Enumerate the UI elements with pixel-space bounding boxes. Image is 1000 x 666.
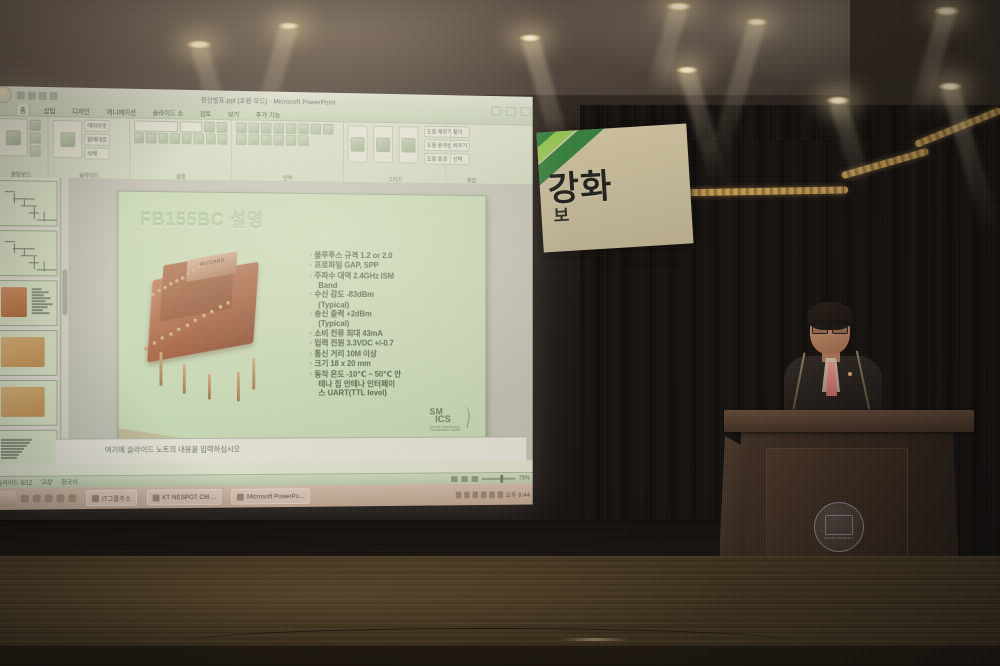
thumbnail-text-lines [1,439,53,460]
university-emblem: SEJONG UNIVERSITY [814,502,864,552]
numbering-icon[interactable] [248,123,259,134]
pcb-pin [218,305,222,309]
align-right-icon[interactable] [261,135,272,146]
pcb-pin-headers [136,253,279,254]
slide-bullet: ›통신 거리 10M 이상 [310,349,477,359]
taskbar-window-label: KT NESPOT CM ... [162,493,216,500]
new-slide-button[interactable] [53,120,83,158]
ribbon-tab-2[interactable]: 디자인 [69,104,93,116]
slide-editing-area[interactable]: FB155BC 설명 WIZZARD ›블루투스 규격 1.2 or 2.0›프… [68,178,532,463]
distribute-icon[interactable] [298,135,308,146]
bullet-marker-icon: › [310,370,312,380]
bullet-text: 프로파일 GAP, SPP [314,261,477,272]
theme-name: '교장' [40,478,53,487]
bullet-continuation: (Typical) [318,320,477,329]
ribbon-tab-1[interactable]: 삽입 [41,104,59,116]
bluetooth-module-image[interactable]: WIZZARD [136,253,279,401]
pcb-pin [185,323,189,327]
zoom-slider[interactable] [482,477,515,479]
find-button[interactable]: 찾기 [450,126,470,138]
align-text-icon[interactable] [311,124,321,135]
conference-photo: 강화 보 정산발표.ppt [호환 모드] - Microsoft PowerP… [0,0,1000,666]
zoom-level: 75% [519,475,530,481]
slide-thumbnail-pane[interactable]: 5678910 [0,177,60,464]
glasses-icon [812,325,848,332]
slide-bullet: ›동작 온도 -10℃ ~ 50℃ 안 [310,370,477,380]
italic-icon[interactable] [146,133,156,144]
zoom-slider-handle[interactable] [500,474,503,482]
thumbnail-image [1,387,45,417]
slide-bullet: ›주파수 대역 2.4GHz ISM [310,271,477,282]
banner-subtitle: 보 [553,201,570,227]
columns-icon[interactable] [286,135,297,146]
folder-icon [92,495,99,502]
minimize-icon[interactable] [491,107,501,116]
view-slideshow-icon[interactable] [472,476,479,482]
pcb-pin [193,269,197,273]
monitor-icon[interactable] [497,491,503,498]
pcb-pin [144,346,148,350]
line-spacing-icon[interactable] [286,123,297,134]
system-tray[interactable]: 오후 8:44 [455,489,530,499]
bullet-text: 입력 전원 3.3VDC +/-0.7 [314,339,477,349]
bullet-text: 주파수 대역 2.4GHz ISM [314,271,477,282]
thumbnail-scrollbar[interactable] [60,178,68,464]
grow-font-icon[interactable] [205,122,215,133]
lapel-pin [848,372,852,376]
taskbar-window-label: Microsoft PowerPo... [247,493,304,500]
bullet-marker-icon: › [310,271,312,281]
slide-thumbnail[interactable]: 5 [0,180,58,227]
thumbnail-image [1,287,27,317]
slide-logo: SM ICS Sensing, Networking & Communicati… [430,406,471,435]
powerpoint-icon [237,493,244,500]
pcb-pin [193,319,197,323]
taskbar-window-list[interactable]: IT그룹주소KT NESPOT CM ...Microsoft PowerPo.… [76,488,310,506]
select-button[interactable]: 선택 [450,153,470,165]
pcb-leg-pin [159,352,162,386]
ribbon-group-clipboard[interactable]: 클립보드 [0,116,49,179]
media-icon[interactable] [57,494,65,502]
projection-screen: 정산발표.ppt [호환 모드] - Microsoft PowerPoint … [0,86,533,510]
decrease-indent-icon[interactable] [261,123,272,134]
align-center-icon[interactable] [248,134,259,145]
replace-button[interactable]: 바꾸기 [450,140,470,152]
bullet-text: 송신 출력 +2dBm [314,309,477,319]
floor-bottom-strip [0,646,1000,666]
bullet-text: 통신 거리 10M 이상 [314,349,477,359]
start-button[interactable] [0,491,16,507]
ribbon-group-font[interactable]: 글꼴 [130,118,232,181]
slide-bullet: ›프로파일 GAP, SPP [310,260,477,271]
bullet-marker-icon: › [310,309,312,319]
slide-bullet: ›수신 감도 -83dBm [310,290,477,301]
shield-icon[interactable] [472,491,478,498]
taskbar-window-button[interactable]: KT NESPOT CM ... [147,489,222,505]
wall-banner: 강화 보 [536,124,693,253]
bullet-text: 동작 온도 -10℃ ~ 50℃ 안 [314,370,477,380]
copy-icon[interactable] [30,132,41,143]
mail-icon[interactable] [33,495,41,503]
ribbon-tab-7[interactable]: 추가 기능 [253,108,283,120]
view-sorter-icon[interactable] [461,476,468,482]
quick-launch-bar[interactable] [21,494,76,502]
pcb-leg-pin [252,358,255,389]
ribbon-group-editing[interactable]: 찾기 바꾸기 선택 편집 [446,124,496,185]
slide-body-text[interactable]: ›블루투스 규격 1.2 or 2.0›프로파일 GAP, SPP›주파수 대역… [310,250,477,398]
bullet-marker-icon: › [310,339,312,349]
bullet-text: 크기 18 x 20 mm [314,359,477,369]
pcb-pin [175,279,179,283]
taskbar-clock: 오후 8:44 [506,489,530,499]
shapes-icon [351,137,365,152]
view-normal-icon[interactable] [451,476,458,482]
ribbon-tab-6[interactable]: 보기 [225,107,242,119]
ribbon-tab-3[interactable]: 애니메이션 [104,105,139,118]
bullet-marker-icon: › [310,349,312,359]
slide-thumbnail[interactable]: 10 [0,430,58,464]
ribbon-group-drawing[interactable]: 도형 채우기 도형 윤곽선 도형 효과 그리기 [344,122,447,184]
pcb-leg-pin [237,371,240,400]
ribbon-tab-4[interactable]: 슬라이드 쇼 [150,106,187,119]
floor-highlight [560,638,630,641]
slide-counter: 슬라이드 8/12 [0,478,32,487]
smartart-icon[interactable] [323,124,333,135]
shrink-font-icon[interactable] [217,122,227,133]
slide-thumbnail[interactable]: 8 [0,330,58,376]
thumbnail-text-lines [32,288,54,315]
slide-bullet: ›송신 출력 +2dBm [310,309,477,319]
close-icon[interactable] [521,107,531,116]
delete-slide-button[interactable]: 삭제 [84,147,110,159]
thumbnail-image [1,337,45,367]
bullet-text: 블루투스 규격 1.2 or 2.0 [314,250,477,261]
bullet-text: 수신 감도 -83dBm [314,290,477,301]
change-case-icon[interactable] [206,134,216,145]
layout-button[interactable]: 레이아웃 [84,120,110,132]
volume-icon[interactable] [455,491,461,498]
folder-icon[interactable] [45,494,53,502]
language-indicator[interactable]: 한국어 [61,477,77,486]
quick-styles-button[interactable] [399,126,419,163]
powerpoint-window: 정산발표.ppt [호환 모드] - Microsoft PowerPoint … [0,86,533,510]
reset-button[interactable]: 원래대로 [84,134,110,146]
ribbon[interactable]: 클립보드 레이아웃 원래대로 삭제 슬라이드 [0,116,533,186]
pcb-pin [152,292,156,296]
music-icon[interactable] [68,494,76,502]
slide-bullet: ›크기 18 x 20 mm [310,359,477,369]
bold-icon[interactable] [134,132,144,143]
pcb-pin [163,286,167,290]
module-label: WIZZARD [187,255,238,270]
usb-icon[interactable] [480,491,486,498]
bullet-continuation: 테나 칩 안테나 인터페이 [318,380,477,389]
shadow-icon[interactable] [170,133,180,144]
taskbar-window-label: IT그룹주소 [102,493,131,503]
slide-title[interactable]: FB155BC 설명 [140,205,264,232]
slide-bullet: ›입력 전원 3.3VDC +/-0.7 [310,339,477,349]
quick-styles-icon [401,137,415,152]
bullet-marker-icon: › [310,329,312,339]
strikethrough-icon[interactable] [182,133,192,144]
slide-thumbnail[interactable]: 6 [0,230,58,276]
ribbon-group-slides[interactable]: 레이아웃 원래대로 삭제 슬라이드 [49,117,131,180]
new-slide-icon [60,132,75,147]
scrollbar-thumb[interactable] [62,269,67,315]
bullet-marker-icon: › [310,260,312,270]
format-painter-icon[interactable] [30,145,41,156]
shapes-button[interactable] [348,125,368,162]
slide-thumbnail[interactable]: 9 [0,380,58,426]
workspace: 5678910 FB155BC 설명 WIZZARD ›블루투스 규격 1.2 … [0,177,533,464]
status-right[interactable]: 75% [451,475,530,481]
increase-indent-icon[interactable] [273,123,284,134]
ribbon-tab-5[interactable]: 검토 [197,107,214,119]
window-controls[interactable] [491,107,531,116]
underline-icon[interactable] [158,133,168,144]
paste-icon [5,130,20,145]
emblem-inner-shield [825,515,853,535]
pcb-pin [152,341,156,345]
ribbon-tab-0[interactable]: 홈 [16,102,30,115]
align-left-icon[interactable] [236,134,247,145]
ribbon-group-paragraph[interactable]: 단락 [232,120,344,182]
font-color-icon[interactable] [217,134,227,145]
arrange-icon [376,137,390,152]
cut-icon[interactable] [30,119,41,130]
font-family-select[interactable] [134,121,178,133]
pcb-pin [181,276,185,280]
pcb-leg-pin [208,373,211,399]
slide-bullet: ›소비 전류 최대 43mA [310,329,477,339]
pcb-pin [169,332,173,336]
taskbar-window-button[interactable]: Microsoft PowerPo... [232,488,311,504]
pcb-pin [210,310,214,314]
network-icon [152,494,159,501]
browser-icon[interactable] [21,495,29,503]
bullet-marker-icon: › [310,250,312,260]
bullet-marker-icon: › [310,290,312,300]
pcb-pin [226,301,230,305]
paste-button[interactable] [0,118,28,156]
pcb-leg-pin [183,364,186,394]
taskbar-window-button[interactable]: IT그룹주소 [86,490,137,506]
thumbnail-diagram [1,185,53,222]
font-size-select[interactable] [180,121,203,132]
slide-thumbnail[interactable]: 7 [0,280,58,326]
character-spacing-icon[interactable] [194,133,204,144]
notes-placeholder[interactable]: 여기에 슬라이드 노트의 내용을 입력하십시오 [105,444,240,456]
bullet-marker-icon: › [310,359,312,369]
current-slide[interactable]: FB155BC 설명 WIZZARD ›블루투스 규격 1.2 or 2.0›프… [118,191,485,451]
bullet-text: 소비 전류 최대 43mA [314,329,477,339]
emblem-text: SEJONG UNIVERSITY [824,537,854,540]
notes-pane[interactable]: 여기에 슬라이드 노트의 내용을 입력하십시오 [56,436,527,463]
thumbnail-diagram [1,235,53,271]
justify-icon[interactable] [273,135,284,146]
podium-top [724,410,974,432]
slide-bullet: ›블루투스 규격 1.2 or 2.0 [310,250,477,261]
text-direction-icon[interactable] [298,123,308,134]
pcb-pin [202,314,206,318]
network-icon[interactable] [464,491,470,498]
bullets-icon[interactable] [236,122,247,133]
bullet-continuation: 스 UART(TTL level) [318,389,477,398]
arrange-button[interactable] [373,126,393,163]
battery-icon[interactable] [489,491,495,498]
restore-icon[interactable] [506,107,516,116]
